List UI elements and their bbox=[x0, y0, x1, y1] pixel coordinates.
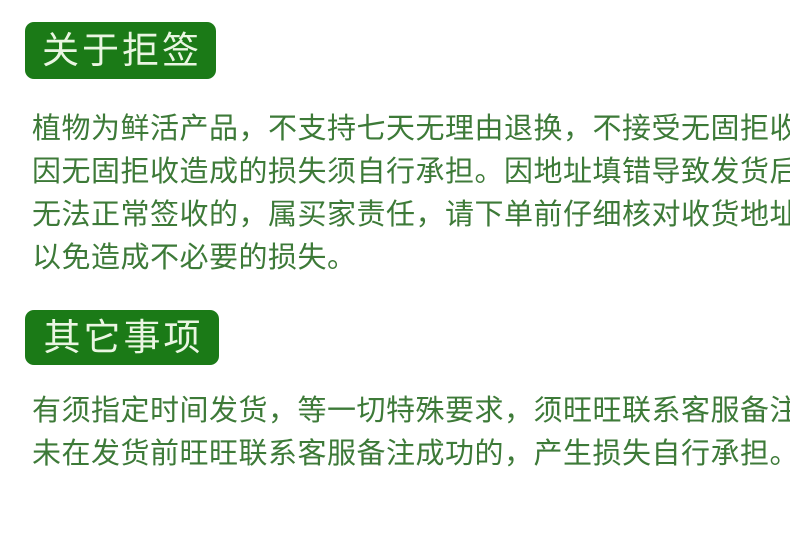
section-body-other-matters: 有须指定时间发货，等一切特殊要求，须旺旺联系客服备注， 未在发货前旺旺联系客服备… bbox=[32, 389, 790, 475]
body-line: 有须指定时间发货，等一切特殊要求，须旺旺联系客服备注， bbox=[32, 389, 790, 432]
body-line: 以免造成不必要的损失。 bbox=[32, 236, 790, 279]
section-heading-other-matters: 其它事项 bbox=[25, 310, 219, 365]
section-heading-about-refusal: 关于拒签 bbox=[25, 22, 216, 79]
body-line: 无法正常签收的，属买家责任，请下单前仔细核对收货地址 bbox=[32, 193, 790, 236]
body-line: 因无固拒收造成的损失须自行承担。因地址填错导致发货后 bbox=[32, 150, 790, 193]
body-line: 未在发货前旺旺联系客服备注成功的，产生损失自行承担。 bbox=[32, 432, 790, 475]
body-line: 植物为鲜活产品，不支持七天无理由退换，不接受无固拒收， bbox=[32, 107, 790, 150]
shipping-policy-notice: 关于拒签 植物为鲜活产品，不支持七天无理由退换，不接受无固拒收， 因无固拒收造成… bbox=[0, 0, 790, 533]
section-body-about-refusal: 植物为鲜活产品，不支持七天无理由退换，不接受无固拒收， 因无固拒收造成的损失须自… bbox=[32, 107, 790, 279]
